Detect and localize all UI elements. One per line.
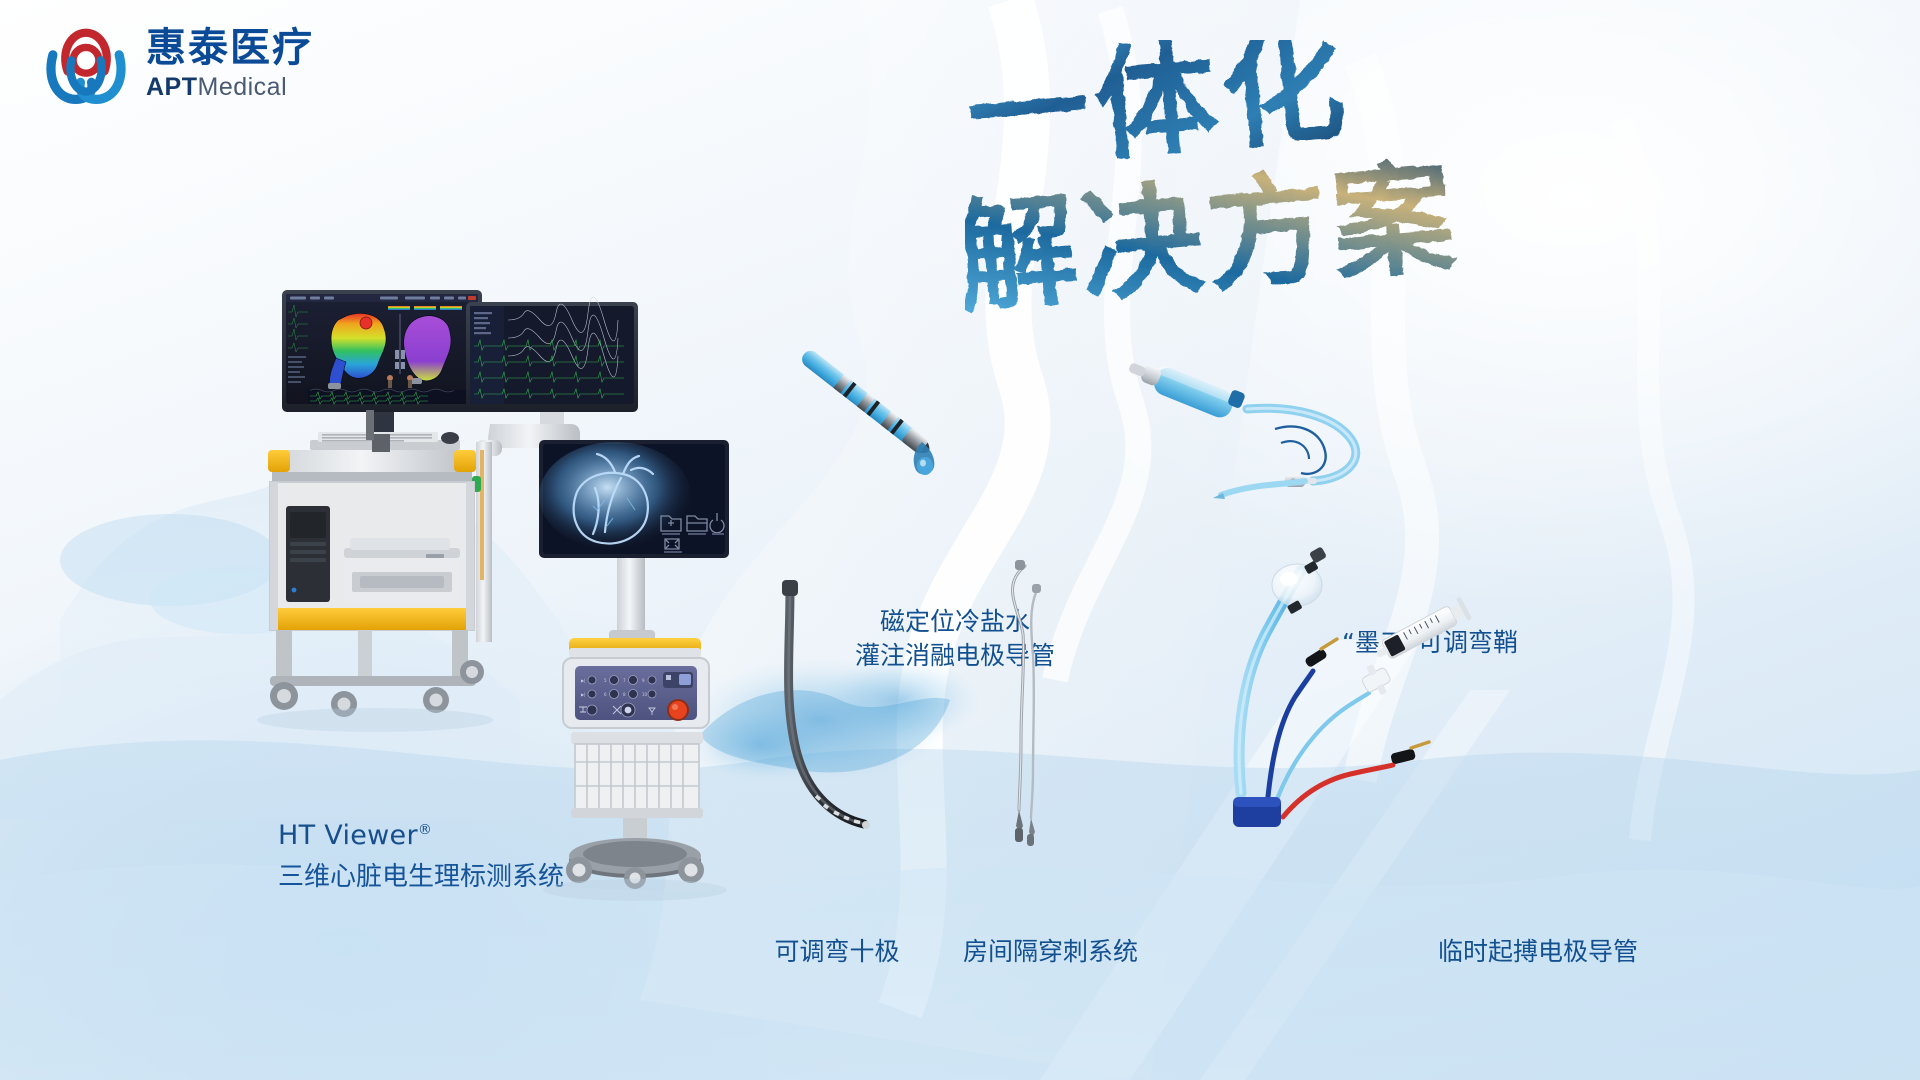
monitor-left [282,290,482,440]
label-ht-viewer: HT Viewer® 三维心脏电生理标测系统 [278,818,564,896]
poster-canvas: 惠泰医疗 APTMedical [0,0,1920,1080]
rf-console-display [539,440,729,558]
svg-text:10: 10 [642,692,648,697]
label-ht-viewer-cn: 三维心脏电生理标测系统 [278,860,564,895]
brand-name-en: APTMedical [146,75,314,100]
power-button [669,701,687,719]
rf-generator: ▶|▶| 56 78 910 [563,658,709,728]
steerable-sheath-art [1135,355,1425,535]
label-decapolar-catheter: 可调弯十极 [772,935,902,969]
brand-name-en-bold: APT [146,73,198,101]
label-transseptal-puncture: 房间隔穿刺系统 [963,935,1133,969]
pacing-catheter-art [1205,545,1465,925]
workstation-cart [257,410,493,732]
monitor-right [466,297,638,456]
syringe [1371,597,1472,666]
svg-text:▶|: ▶| [581,692,585,697]
headline-calligraphy: 一体化 解决方案 [965,40,1665,360]
label-pacing-catheter-line1: 临时起搏电极导管 [1428,935,1648,969]
cart-basket [571,732,703,818]
label-decapolar-catheter-line1: 可调弯十极 [772,935,902,969]
label-ht-viewer-en: HT Viewer® [278,818,564,854]
brand-name-en-light: Medical [198,73,288,101]
svg-text:▶|: ▶| [581,678,585,683]
display-column [617,558,645,634]
decapolar-catheter-art [760,580,900,900]
brand-name-cn: 惠泰医疗 [146,28,314,68]
label-transseptal-puncture-line1: 房间隔穿刺系统 [963,935,1133,969]
ablation-catheter-art [800,352,980,492]
apt-medical-logo-icon [40,18,132,110]
label-pacing-catheter: 临时起搏电极导管 [1428,935,1648,969]
transseptal-puncture-art [985,560,1095,920]
brand-logo: 惠泰医疗 APTMedical [40,18,314,110]
